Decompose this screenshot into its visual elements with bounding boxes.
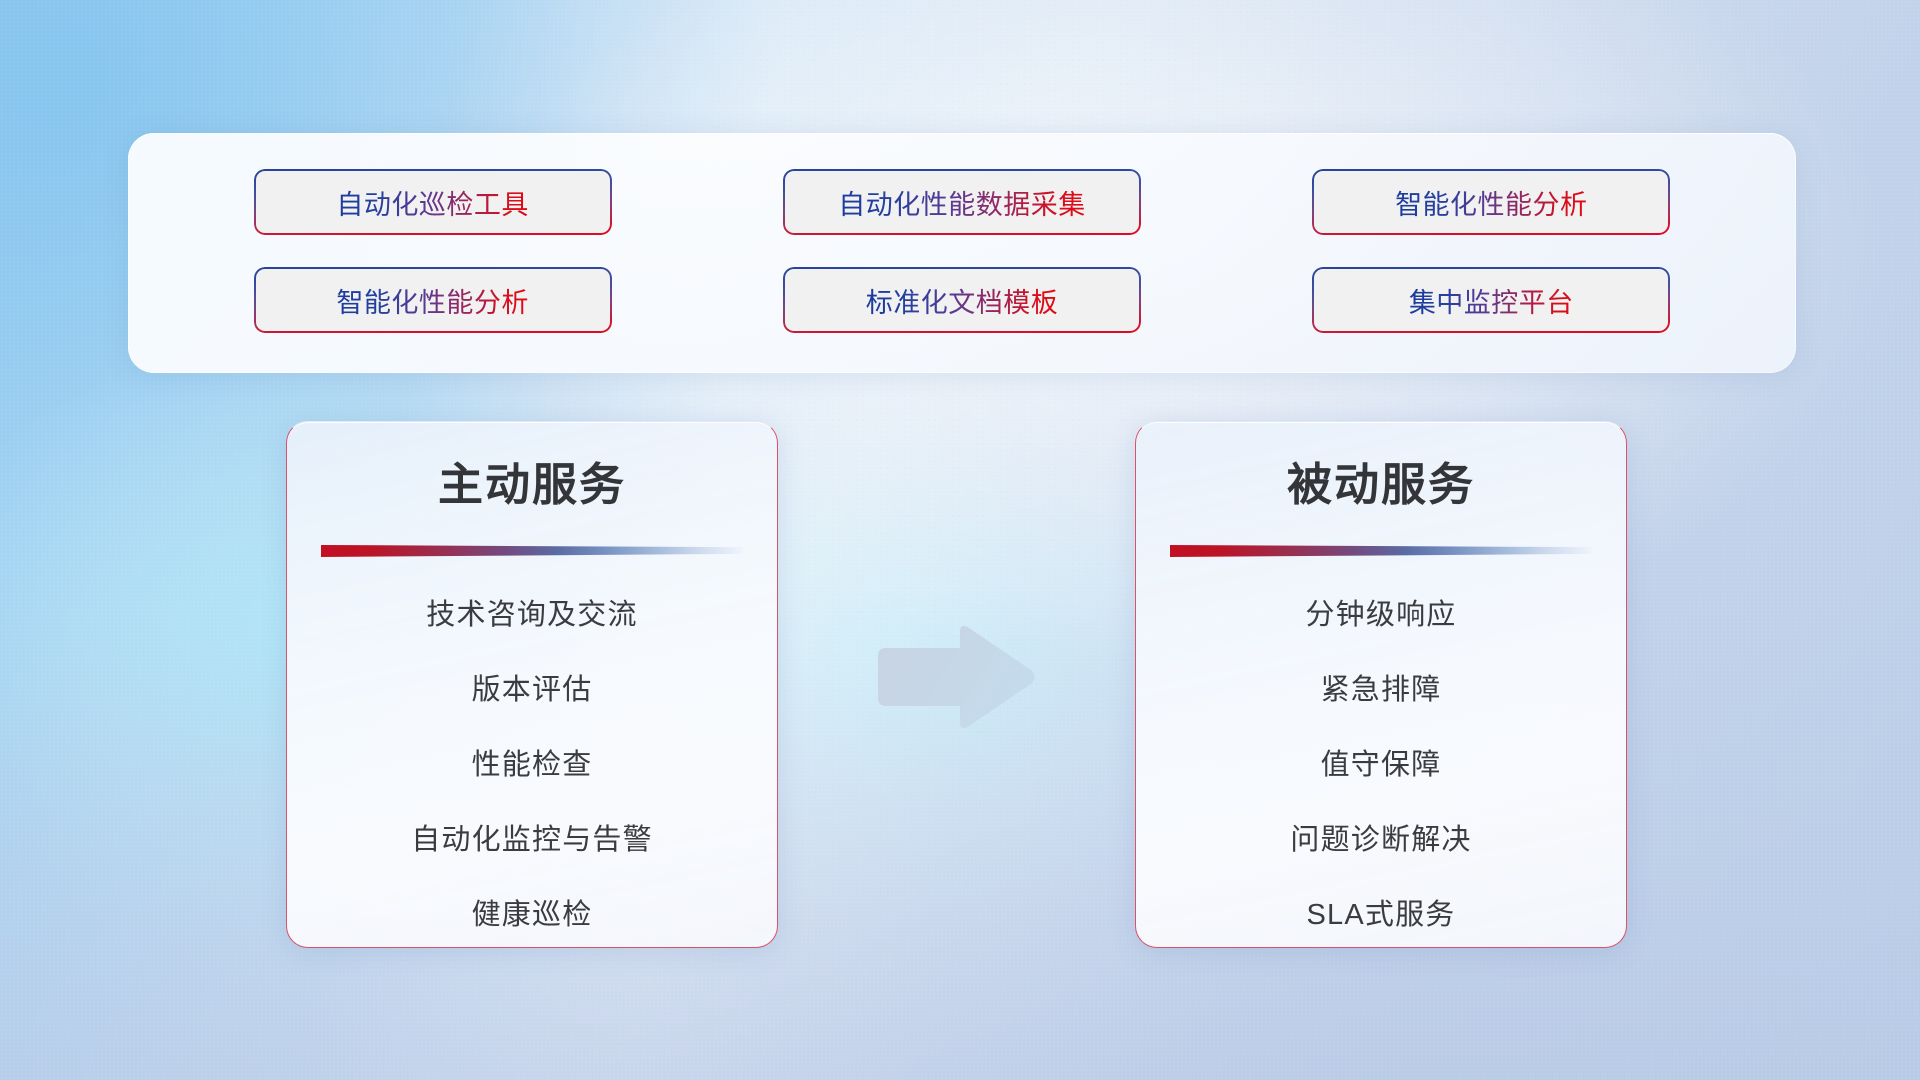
capability-chip-label: 自动化性能数据采集 bbox=[838, 183, 1086, 222]
capability-chip-label: 集中监控平台 bbox=[1409, 281, 1574, 320]
list-item: 版本评估 bbox=[287, 676, 777, 705]
capability-chip-automated-inspection-tool[interactable]: 自动化巡检工具 bbox=[254, 169, 612, 235]
capability-chip-automated-performance-collection[interactable]: 自动化性能数据采集 bbox=[783, 169, 1141, 235]
proactive-service-list: 技术咨询及交流 版本评估 性能检查 自动化监控与告警 健康巡检 bbox=[287, 557, 777, 930]
list-item: 自动化监控与告警 bbox=[287, 826, 777, 855]
list-item: 问题诊断解决 bbox=[1136, 826, 1626, 855]
capability-chip-label: 自动化巡检工具 bbox=[336, 183, 529, 222]
list-item: 值守保障 bbox=[1136, 751, 1626, 780]
reactive-service-title: 被动服务 bbox=[1136, 422, 1626, 507]
divider-gradient-bar bbox=[1170, 545, 1592, 557]
reactive-service-card: 被动服务 分钟级响应 紧急排障 值守保障 问题诊断解决 SLA式服务 bbox=[1135, 421, 1627, 948]
list-item: 健康巡检 bbox=[287, 901, 777, 930]
capability-chip-label: 智能化性能分析 bbox=[1395, 183, 1588, 222]
reactive-service-list: 分钟级响应 紧急排障 值守保障 问题诊断解决 SLA式服务 bbox=[1136, 557, 1626, 930]
list-item: SLA式服务 bbox=[1136, 901, 1626, 930]
list-item: 紧急排障 bbox=[1136, 676, 1626, 705]
proactive-service-divider bbox=[321, 545, 743, 557]
capability-chip-label: 标准化文档模板 bbox=[866, 281, 1059, 320]
diagram-canvas: 自动化巡检工具 自动化性能数据采集 智能化性能分析 智能化性能分析 标准化文档模… bbox=[0, 0, 1920, 1080]
capability-chip-standard-doc-template[interactable]: 标准化文档模板 bbox=[783, 267, 1141, 333]
divider-gradient-bar bbox=[321, 545, 743, 557]
reactive-service-divider bbox=[1170, 545, 1592, 557]
list-item: 性能检查 bbox=[287, 751, 777, 780]
proactive-service-title: 主动服务 bbox=[287, 422, 777, 507]
flow-arrow-right-icon bbox=[874, 622, 1038, 732]
capability-panel: 自动化巡检工具 自动化性能数据采集 智能化性能分析 智能化性能分析 标准化文档模… bbox=[128, 133, 1796, 373]
capability-chip-intelligent-performance-analysis-2[interactable]: 智能化性能分析 bbox=[254, 267, 612, 333]
proactive-service-card: 主动服务 技术咨询及交流 版本评估 性能检查 自动化监控与告警 健康巡检 bbox=[286, 421, 778, 948]
capability-chip-label: 智能化性能分析 bbox=[336, 281, 529, 320]
capability-chip-centralized-monitoring-platform[interactable]: 集中监控平台 bbox=[1312, 267, 1670, 333]
capability-chip-intelligent-performance-analysis[interactable]: 智能化性能分析 bbox=[1312, 169, 1670, 235]
list-item: 分钟级响应 bbox=[1136, 601, 1626, 630]
list-item: 技术咨询及交流 bbox=[287, 601, 777, 630]
